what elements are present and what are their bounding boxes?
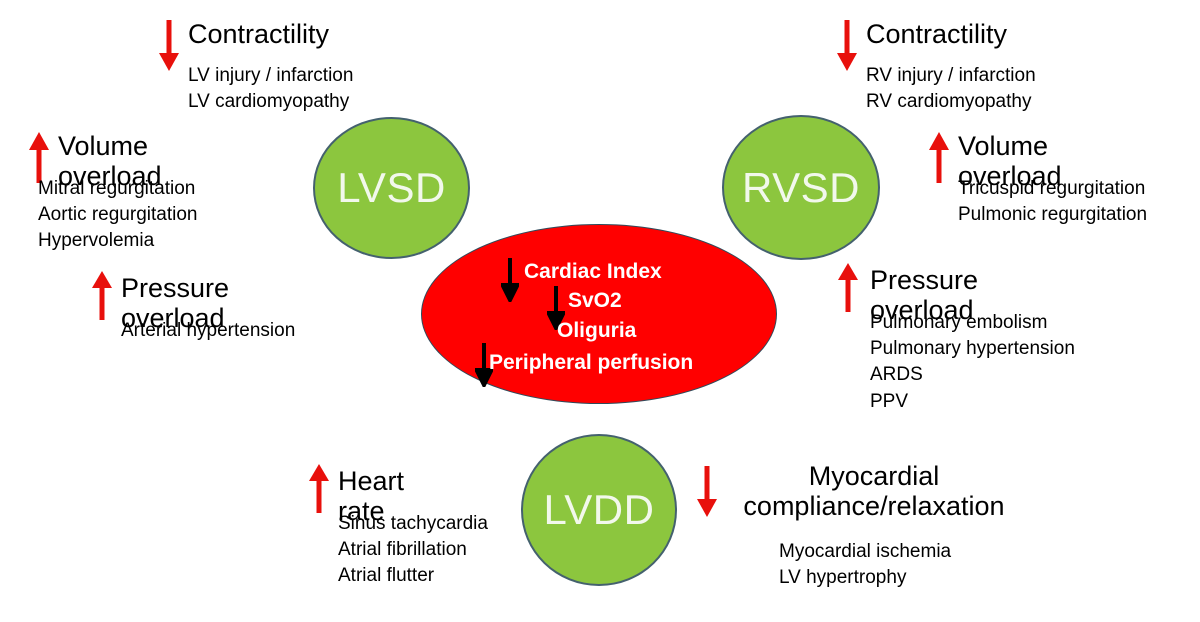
- up-arrow-icon-right-pressure-overload: [836, 262, 860, 312]
- group-title-lv-contractility: Contractility: [188, 19, 329, 49]
- node-lvdd[interactable]: LVDD: [521, 434, 677, 586]
- down-arrow-icon-lv-contractility: [157, 20, 181, 72]
- group-items-heart-rate: Sinus tachycardia Atrial fibrillation At…: [338, 511, 488, 590]
- up-arrow-icon-right-volume-overload: [927, 131, 951, 183]
- list-item: Myocardial ischemia: [779, 539, 951, 565]
- list-item: RV injury / infarction: [866, 63, 1036, 89]
- list-item: Tricuspid regurgitation: [958, 176, 1147, 202]
- list-item: Atrial fibrillation: [338, 537, 488, 563]
- group-title-myocardial-compliance: Myocardial compliance/relaxation: [729, 461, 1019, 521]
- down-arrow-icon-rv-contractility: [835, 20, 859, 72]
- list-item: Pulmonary embolism: [870, 310, 1075, 336]
- diagram-canvas: LVSD RVSD LVDD Cardiac Index SvO2 Oligur…: [0, 0, 1200, 622]
- down-arrow-icon-myocardial-compliance: [695, 466, 719, 518]
- list-item: Arterial hypertension: [121, 318, 295, 344]
- group-items-right-volume-overload: Tricuspid regurgitation Pulmonic regurgi…: [958, 176, 1147, 228]
- node-lvdd-label: LVDD: [544, 489, 655, 531]
- list-item: PPV: [870, 389, 1075, 415]
- list-item: Hypervolemia: [38, 228, 197, 254]
- group-items-myocardial-compliance: Myocardial ischemia LV hypertrophy: [779, 539, 951, 591]
- group-items-right-pressure-overload: Pulmonary embolism Pulmonary hypertensio…: [870, 310, 1075, 415]
- node-rvsd[interactable]: RVSD: [722, 115, 880, 260]
- group-items-rv-contractility: RV injury / infarction RV cardiomyopathy: [866, 63, 1036, 115]
- group-items-left-pressure-overload: Arterial hypertension: [121, 318, 295, 344]
- down-arrow-icon-cardiac-index: [501, 258, 519, 302]
- up-arrow-icon-heart-rate: [307, 463, 331, 513]
- node-rvsd-label: RVSD: [742, 167, 860, 209]
- list-item: LV injury / infarction: [188, 63, 353, 89]
- list-item: Pulmonic regurgitation: [958, 202, 1147, 228]
- list-item: RV cardiomyopathy: [866, 89, 1036, 115]
- list-item: LV hypertrophy: [779, 565, 951, 591]
- node-lvsd[interactable]: LVSD: [313, 117, 470, 259]
- list-item: ARDS: [870, 362, 1075, 388]
- list-item: LV cardiomyopathy: [188, 89, 353, 115]
- list-item: Sinus tachycardia: [338, 511, 488, 537]
- group-title-rv-contractility: Contractility: [866, 19, 1007, 49]
- ellipse-row-svo2: SvO2: [568, 290, 622, 311]
- ellipse-row-oliguria: Oliguria: [557, 320, 636, 341]
- list-item: Atrial flutter: [338, 563, 488, 589]
- group-items-left-volume-overload: Mitral regurgitation Aortic regurgitatio…: [38, 176, 197, 255]
- group-items-lv-contractility: LV injury / infarction LV cardiomyopathy: [188, 63, 353, 115]
- up-arrow-icon-left-pressure-overload: [90, 270, 114, 320]
- ellipse-row-cardiac-index: Cardiac Index: [524, 261, 662, 282]
- ellipse-row-peripheral-perfusion: Peripheral perfusion: [489, 352, 693, 373]
- list-item: Aortic regurgitation: [38, 202, 197, 228]
- list-item: Pulmonary hypertension: [870, 336, 1075, 362]
- node-lvsd-label: LVSD: [337, 167, 446, 209]
- list-item: Mitral regurgitation: [38, 176, 197, 202]
